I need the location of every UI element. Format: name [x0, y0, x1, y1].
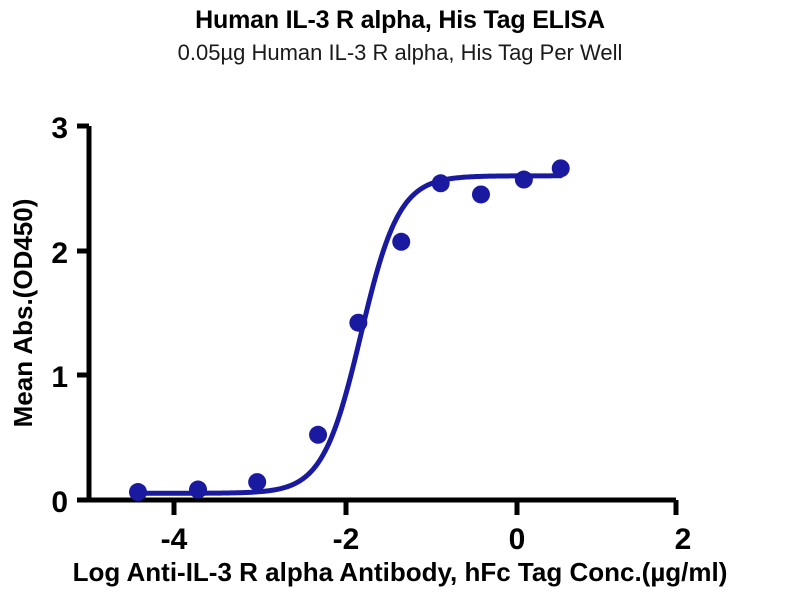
axis-group	[77, 126, 676, 515]
data-point	[349, 314, 367, 332]
y-axis-title: Mean Abs.(OD450)	[8, 199, 38, 428]
x-axis-title-block: Log Anti-IL-3 R alpha Antibody, hFc Tag …	[0, 556, 800, 588]
data-point	[552, 159, 570, 177]
data-point	[189, 481, 207, 499]
data-point	[309, 426, 327, 444]
y-tick-label-0: 0	[51, 486, 68, 519]
x-tick-label-minus4: -4	[161, 523, 188, 556]
data-point	[248, 473, 266, 491]
x-tick-labels: -4 -2 0 2	[161, 523, 692, 556]
data-point	[515, 171, 533, 189]
data-point	[472, 185, 490, 203]
y-tick-labels: 3 2 1 0	[51, 112, 68, 519]
data-point	[129, 483, 147, 501]
x-tick-label-minus2: -2	[333, 523, 360, 556]
plot-area: 3 2 1 0 -4 -2 0 2 Mean Abs.(OD450)	[0, 0, 800, 600]
data-point	[392, 233, 410, 251]
y-tick-label-3: 3	[51, 112, 68, 145]
y-tick-label-1: 1	[51, 361, 68, 394]
x-tick-label-2: 2	[675, 523, 692, 556]
data-point	[432, 174, 450, 192]
x-axis-title: Log Anti-IL-3 R alpha Antibody, hFc Tag …	[73, 557, 728, 587]
x-tick-label-0: 0	[509, 523, 526, 556]
fit-curve	[138, 176, 561, 493]
data-points	[129, 159, 570, 501]
y-tick-label-2: 2	[51, 237, 68, 270]
elisa-figure: Human IL-3 R alpha, His Tag ELISA 0.05µg…	[0, 0, 800, 600]
